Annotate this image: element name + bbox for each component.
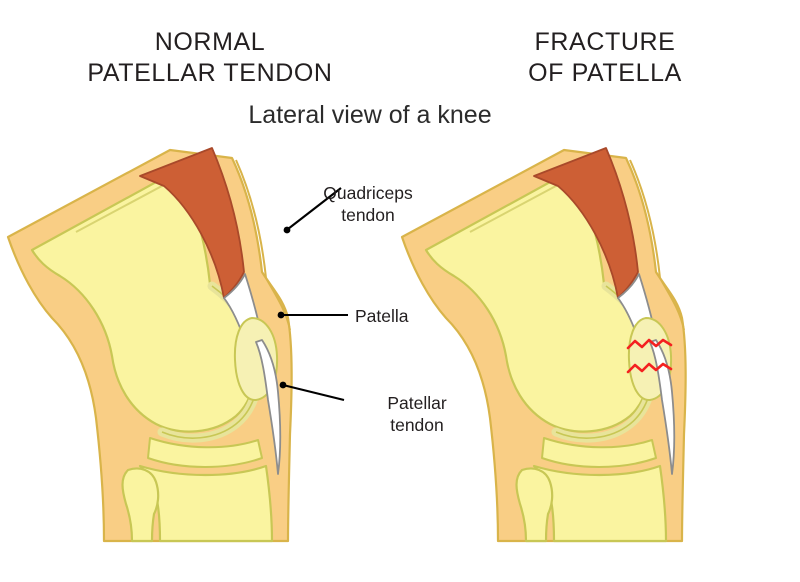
illustration-stage: NORMAL PATELLAR TENDON FRACTURE OF PATEL… — [0, 0, 800, 582]
knee-figure-normal — [8, 148, 292, 541]
callout-label-patella: Patella — [355, 305, 475, 327]
callout-label-quadriceps-tendon: Quadriceps tendon — [293, 182, 443, 226]
leader-dot-patellar-tendon — [280, 382, 287, 389]
knee-anatomy-artwork — [0, 0, 800, 582]
leader-dot-quadriceps-tendon — [284, 227, 291, 234]
knee-figure-fracture — [402, 148, 686, 541]
leader-dot-patella — [278, 312, 285, 319]
callout-label-patellar-tendon: Patellar tendon — [352, 392, 482, 436]
